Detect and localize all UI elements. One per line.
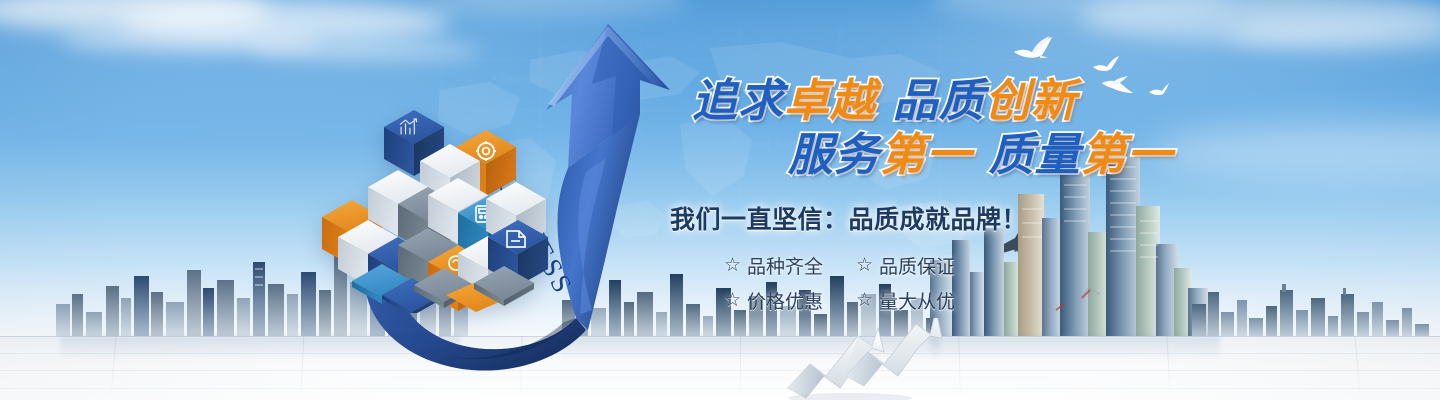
headline-space: [876, 74, 893, 127]
feature-item: ☆ 量大从优: [856, 287, 974, 314]
dove-icon: [1092, 54, 1120, 74]
banner-subtitle: 我们一直坚信：品质成就品牌！: [670, 200, 1228, 236]
promotional-banner: Europe United States na Australia ina: [0, 0, 1440, 400]
feature-label: 量大从优: [879, 287, 955, 314]
star-outline-icon: ☆: [856, 291, 873, 310]
growth-arrows-graphic: [780, 318, 1000, 400]
dove-icon: [1012, 32, 1056, 62]
headline-seg: 创新: [985, 74, 1077, 127]
feature-label: 品种齐全: [747, 252, 823, 279]
cloud-shape: [430, 0, 690, 16]
feature-item: ☆ 品种齐全: [724, 252, 842, 279]
cloud-shape: [60, 28, 320, 54]
feature-item: ☆ 品质保证: [856, 252, 974, 279]
feature-label: 价格优惠: [747, 287, 823, 314]
ground-floor: [0, 336, 1440, 400]
headline-seg: 卓越: [784, 74, 876, 127]
star-outline-icon: ☆: [724, 291, 741, 310]
star-outline-icon: ☆: [724, 256, 741, 275]
headline-space: [972, 128, 989, 181]
rubik-cube-graphic: [322, 108, 552, 313]
headline-seg: 服务: [788, 128, 880, 181]
feature-item: ☆ 价格优惠: [724, 287, 842, 314]
headline-seg: 品质: [893, 74, 985, 127]
headline-seg: 第一: [1081, 128, 1173, 181]
cloud-shape: [0, 0, 270, 32]
headline-seg: 质量: [989, 128, 1081, 181]
cloud-shape: [930, 0, 1230, 18]
feature-list: ☆ 品种齐全 ☆ 品质保证 ☆ 价格优惠 ☆ 量大从优: [724, 252, 994, 314]
cloud-shape: [1080, 0, 1440, 42]
star-outline-icon: ☆: [856, 256, 873, 275]
headline-seg: 第一: [880, 128, 972, 181]
headline-line-2: 服务第一 质量第一: [668, 126, 1228, 184]
headline-seg: 追求: [692, 74, 784, 127]
banner-copy: 追求卓越 品质创新 服务第一 质量第一 我们一直坚信：品质成就品牌！ ☆ 品种齐…: [668, 72, 1228, 314]
cloud-shape: [1230, 18, 1440, 52]
feature-label: 品质保证: [879, 252, 955, 279]
headline-line-1: 追求卓越 品质创新: [668, 72, 1228, 130]
